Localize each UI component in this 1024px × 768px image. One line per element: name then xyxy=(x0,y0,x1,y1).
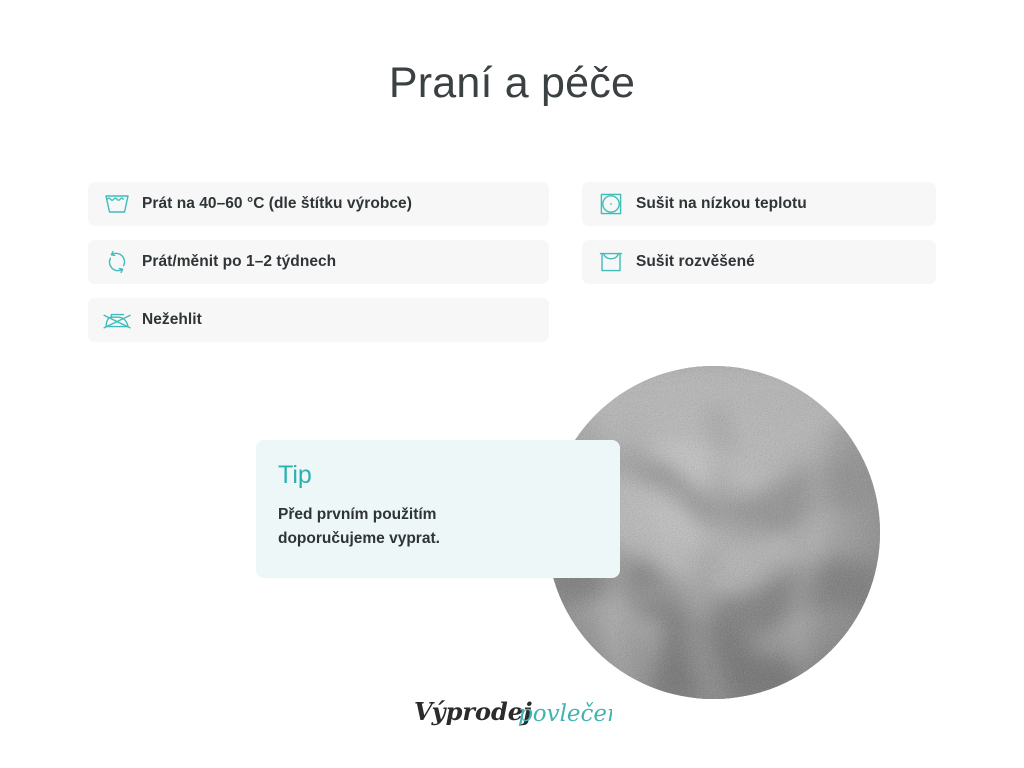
tip-body: Před prvním použitím doporučujeme vyprat… xyxy=(278,503,594,551)
care-row-label: Nežehlit xyxy=(142,311,202,329)
care-column-left: Prát na 40–60 °C (dle štítku výrobce) Pr… xyxy=(88,182,549,342)
logo-word-primary: Výprodej xyxy=(414,697,532,726)
tip-body-line-2: doporučujeme vyprat. xyxy=(278,527,594,551)
no-iron-icon xyxy=(102,305,132,335)
care-instructions-page: Praní a péče Prát na 40–60 °C (dle štítk… xyxy=(0,0,1024,768)
tip-card: Tip Před prvním použitím doporučujeme vy… xyxy=(256,440,620,578)
cycle-arrows-icon xyxy=(102,247,132,277)
care-row-label: Sušit na nízkou teplotu xyxy=(636,195,807,213)
care-row-no-iron: Nežehlit xyxy=(88,298,549,342)
care-instructions-container: Prát na 40–60 °C (dle štítku výrobce) Pr… xyxy=(88,182,936,342)
care-row-wash-temperature: Prát na 40–60 °C (dle štítku výrobce) xyxy=(88,182,549,226)
care-column-right: Sušit na nízkou teplotu Sušit rozvěšené xyxy=(582,182,936,284)
line-dry-icon xyxy=(596,247,626,277)
care-row-tumble-dry-low: Sušit na nízkou teplotu xyxy=(582,182,936,226)
brand-logo: Výprodej povlečení xyxy=(0,692,1024,732)
tumble-dry-low-icon xyxy=(596,189,626,219)
care-row-line-dry: Sušit rozvěšené xyxy=(582,240,936,284)
care-row-label: Prát na 40–60 °C (dle štítku výrobce) xyxy=(142,195,412,213)
tip-body-line-1: Před prvním použitím xyxy=(278,503,594,527)
care-row-wash-frequency: Prát/měnit po 1–2 týdnech xyxy=(88,240,549,284)
care-row-label: Prát/měnit po 1–2 týdnech xyxy=(142,253,336,271)
wash-tub-icon xyxy=(102,189,132,219)
page-title: Praní a péče xyxy=(0,58,1024,110)
care-row-label: Sušit rozvěšené xyxy=(636,253,755,271)
tip-title: Tip xyxy=(278,462,594,490)
logo-word-secondary: povlečení xyxy=(518,701,612,727)
